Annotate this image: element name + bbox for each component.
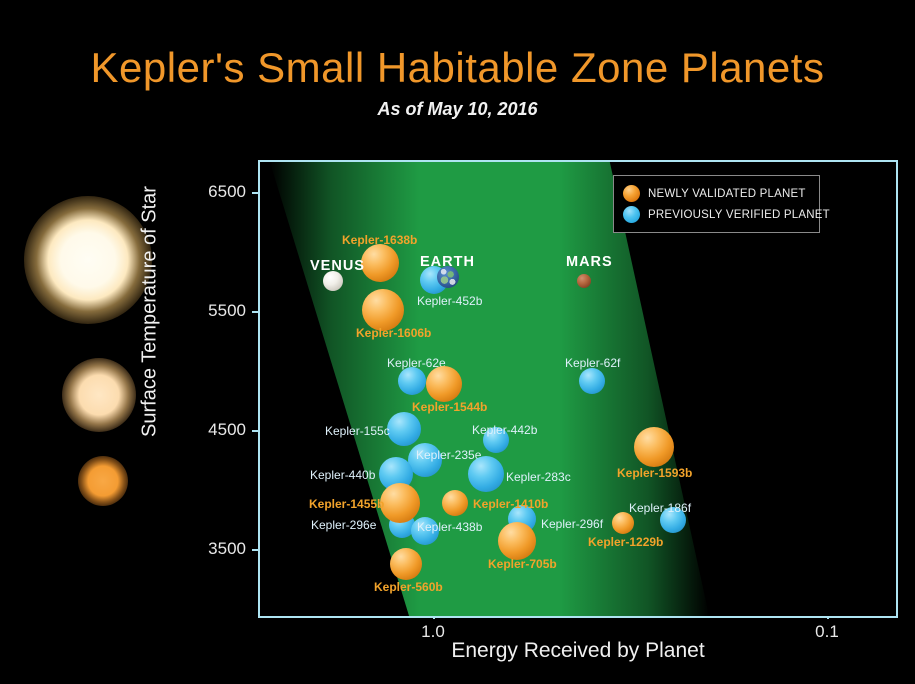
- planet-label-kepler-438b: Kepler-438b: [417, 520, 482, 534]
- planet-label-mars: MARS: [566, 254, 613, 270]
- planet-marker-kepler-155c[interactable]: [387, 412, 421, 446]
- planet-marker-kepler-62f[interactable]: [579, 368, 605, 394]
- planet-marker-kepler-1544b[interactable]: [426, 366, 462, 402]
- planet-label-kepler-296f: Kepler-296f: [541, 517, 603, 531]
- legend: NEWLY VALIDATED PLANET PREVIOUSLY VERIFI…: [613, 175, 820, 233]
- planet-label-kepler-1410b: Kepler-1410b: [473, 497, 548, 511]
- planet-label-kepler-283c: Kepler-283c: [506, 470, 571, 484]
- y-tick-label-3500: 3500: [186, 539, 246, 559]
- planet-label-kepler-442b: Kepler-442b: [472, 423, 537, 437]
- orange-circle-icon: [623, 185, 640, 202]
- planet-marker-kepler-1593b[interactable]: [634, 427, 674, 467]
- star-illustration-m-type: [78, 456, 128, 506]
- planet-label-kepler-452b: Kepler-452b: [417, 294, 482, 308]
- planet-marker-kepler-1455b[interactable]: [380, 483, 420, 523]
- planet-marker-kepler-560b[interactable]: [390, 548, 422, 580]
- legend-item-newly-validated: NEWLY VALIDATED PLANET: [623, 183, 810, 204]
- planet-marker-kepler-1638b[interactable]: [361, 244, 399, 282]
- y-tick-label-4500: 4500: [186, 420, 246, 440]
- planet-marker-kepler-1606b[interactable]: [362, 289, 404, 331]
- y-axis-label: Surface Temperature of Star: [139, 147, 162, 477]
- planet-label-kepler-235e: Kepler-235e: [416, 448, 481, 462]
- page-title: Kepler's Small Habitable Zone Planets: [0, 44, 915, 92]
- y-tick-label-5500: 5500: [186, 301, 246, 321]
- planet-label-kepler-1455b: Kepler-1455b: [309, 497, 384, 511]
- star-illustration-g-type: [24, 196, 152, 324]
- planet-label-kepler-186f: Kepler-186f: [629, 501, 691, 515]
- star-illustration-k-type: [62, 358, 136, 432]
- legend-label-previously-verified: PREVIOUSLY VERIFIED PLANET: [648, 209, 830, 221]
- blue-circle-icon: [623, 206, 640, 223]
- planet-label-kepler-440b: Kepler-440b: [310, 468, 375, 482]
- planet-label-kepler-1638b: Kepler-1638b: [342, 233, 417, 247]
- x-axis-label: Energy Received by Planet: [258, 639, 898, 663]
- planet-marker-kepler-283c[interactable]: [468, 456, 504, 492]
- planet-marker-kepler-1229b[interactable]: [612, 512, 634, 534]
- planet-label-kepler-560b: Kepler-560b: [374, 580, 443, 594]
- planet-marker-kepler-1410b[interactable]: [442, 490, 468, 516]
- planet-marker-mars[interactable]: [577, 274, 591, 288]
- legend-item-previously-verified: PREVIOUSLY VERIFIED PLANET: [623, 204, 810, 225]
- planet-label-kepler-1544b: Kepler-1544b: [412, 400, 487, 414]
- planet-label-venus: VENUS: [310, 258, 365, 274]
- legend-label-newly-validated: NEWLY VALIDATED PLANET: [648, 188, 806, 200]
- page-subtitle: As of May 10, 2016: [0, 99, 915, 120]
- planet-label-kepler-1606b: Kepler-1606b: [356, 326, 431, 340]
- planet-label-kepler-62f: Kepler-62f: [565, 356, 620, 370]
- planet-label-kepler-705b: Kepler-705b: [488, 557, 557, 571]
- planet-label-kepler-1229b: Kepler-1229b: [588, 535, 663, 549]
- planet-label-kepler-1593b: Kepler-1593b: [617, 466, 692, 480]
- infographic-root: Kepler's Small Habitable Zone Planets As…: [0, 0, 915, 684]
- planet-label-kepler-155c: Kepler-155c: [325, 424, 390, 438]
- planet-marker-kepler-705b[interactable]: [498, 522, 536, 560]
- planet-marker-venus[interactable]: [323, 271, 343, 291]
- y-tick-label-6500: 6500: [186, 182, 246, 202]
- planet-label-earth: EARTH: [420, 254, 475, 270]
- planet-marker-kepler-62e[interactable]: [398, 367, 426, 395]
- planet-label-kepler-296e: Kepler-296e: [311, 518, 376, 532]
